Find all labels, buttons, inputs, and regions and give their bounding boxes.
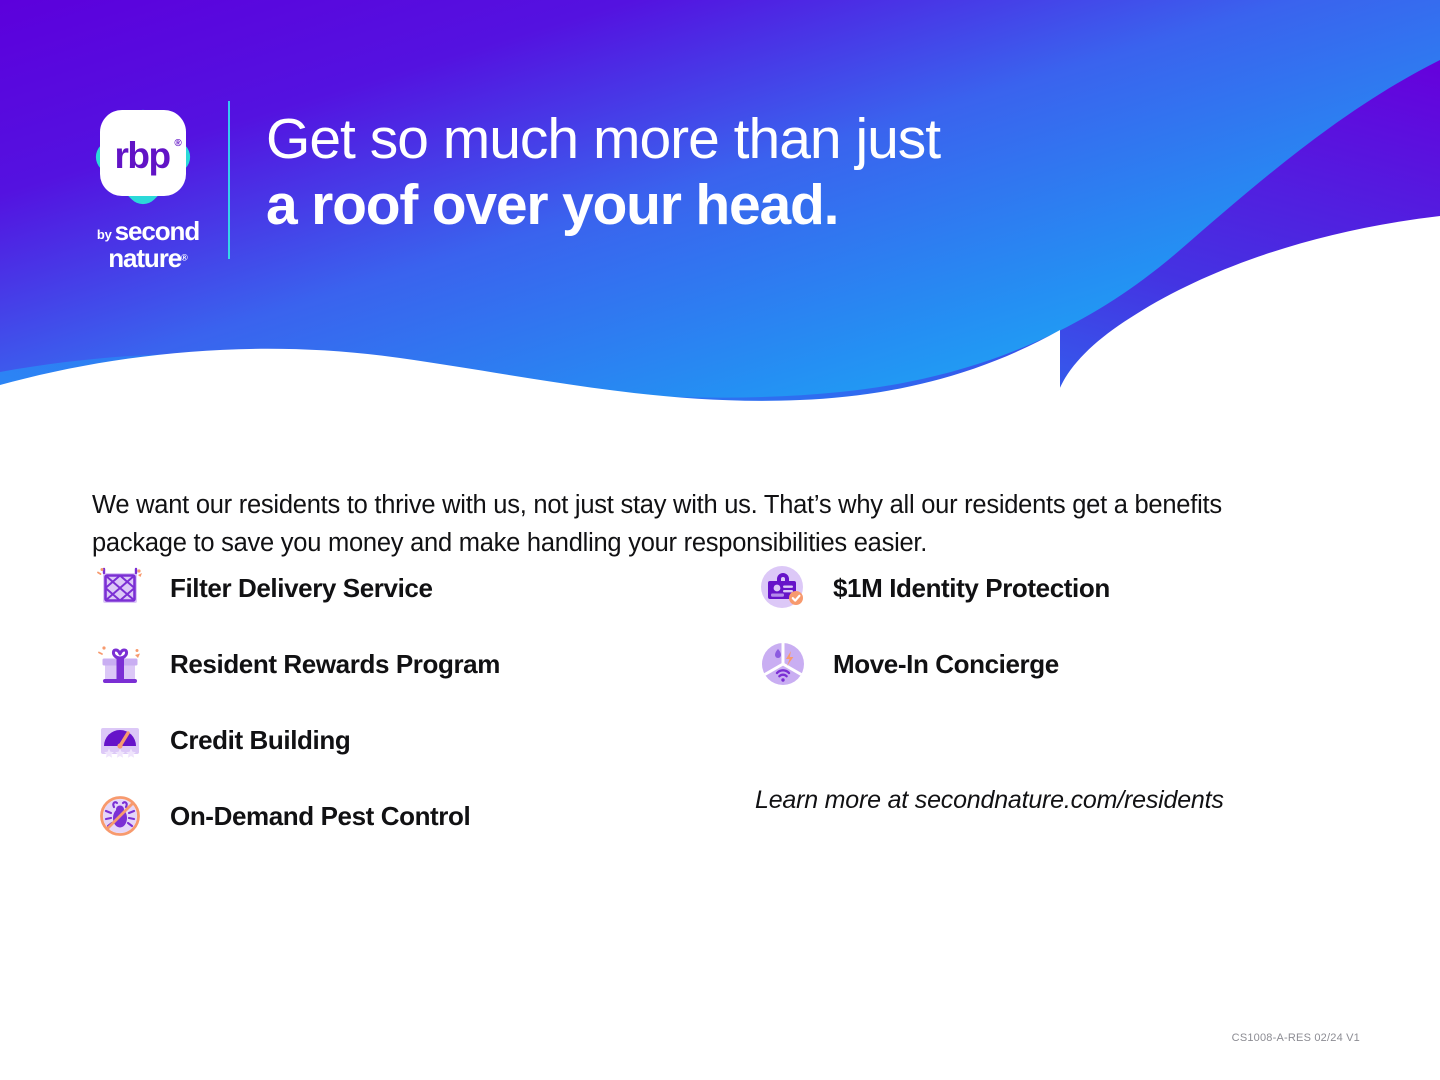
benefit-label: $1M Identity Protection xyxy=(833,573,1110,604)
air-filter-icon xyxy=(92,560,148,616)
benefit-item-resident-rewards-program: Resident Rewards Program xyxy=(92,636,692,692)
headline: Get so much more than just a roof over y… xyxy=(266,106,1166,238)
benefit-item-on-demand-pest-control: On-Demand Pest Control xyxy=(92,788,692,844)
rbp-logo-icon: rbp ® xyxy=(84,98,202,216)
brand-logo-lockup: rbp ® by second nature® xyxy=(78,98,228,260)
byline-registered-mark: ® xyxy=(181,253,188,263)
logo-headline-divider xyxy=(228,101,230,259)
benefit-item-move-in-concierge: Move-In Concierge xyxy=(755,636,1355,692)
byline-by-text: by xyxy=(97,228,112,241)
benefit-label: Move-In Concierge xyxy=(833,649,1059,680)
marketing-flyer: rbp ® by second nature® Get so much more… xyxy=(0,0,1440,1080)
benefit-label: On-Demand Pest Control xyxy=(170,801,470,832)
benefit-label: Filter Delivery Service xyxy=(170,573,433,604)
benefit-item-credit-building: Credit Building xyxy=(92,712,692,768)
id-badge-shield-icon xyxy=(755,560,811,616)
byline-nature-text: nature xyxy=(108,243,181,273)
benefit-item-identity-protection: $1M Identity Protection xyxy=(755,560,1355,616)
byline-second-text: second xyxy=(115,218,199,244)
intro-paragraph: We want our residents to thrive with us,… xyxy=(92,486,1307,562)
learn-more-text: Learn more at secondnature.com/residents xyxy=(755,786,1224,815)
credit-gauge-icon xyxy=(92,712,148,768)
svg-text:rbp: rbp xyxy=(114,135,170,176)
svg-text:®: ® xyxy=(174,138,182,149)
benefit-item-filter-delivery-service: Filter Delivery Service xyxy=(92,560,692,616)
benefits-column-left: Filter Delivery Service xyxy=(92,560,692,864)
benefit-label: Credit Building xyxy=(170,725,350,756)
second-nature-byline: by second nature® xyxy=(78,218,218,271)
headline-line-2: a roof over your head. xyxy=(266,172,1166,238)
headline-line-1: Get so much more than just xyxy=(266,106,1166,172)
gift-box-icon xyxy=(92,636,148,692)
document-code: CS1008-A-RES 02/24 V1 xyxy=(1232,1032,1360,1044)
benefits-column-right: $1M Identity Protection xyxy=(755,560,1355,712)
benefit-label: Resident Rewards Program xyxy=(170,649,500,680)
utilities-circle-icon xyxy=(755,636,811,692)
no-pest-icon xyxy=(92,788,148,844)
